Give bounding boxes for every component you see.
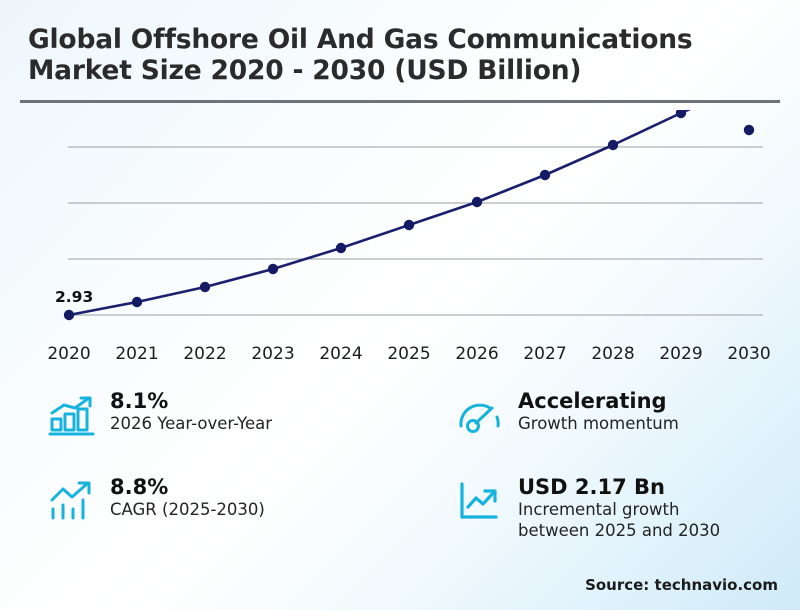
stat-value-momentum: Accelerating (518, 389, 679, 414)
infographic-page: Global Offshore Oil And Gas Communicatio… (0, 0, 800, 610)
stat-text-cagr: 8.8% CAGR (2025-2030) (110, 474, 265, 521)
x-tick-2021: 2021 (115, 344, 158, 364)
x-tick-2028: 2028 (591, 344, 634, 364)
stat-caption-incremental-line2: between 2025 and 2030 (518, 521, 720, 542)
data-point-2030 (744, 125, 754, 135)
stat-caption-cagr: CAGR (2025-2030) (110, 500, 265, 521)
stat-text-incremental: USD 2.17 Bn Incremental growth between 2… (518, 474, 720, 541)
stat-value-yoy: 8.1% (110, 389, 272, 414)
stat-card-incremental: USD 2.17 Bn Incremental growth between 2… (452, 474, 720, 541)
x-tick-2024: 2024 (319, 344, 362, 364)
stat-card-cagr: 8.8% CAGR (2025-2030) (44, 474, 265, 530)
data-point-2022 (200, 282, 210, 292)
x-tick-2022: 2022 (183, 344, 226, 364)
stat-value-incremental: USD 2.17 Bn (518, 475, 720, 500)
x-tick-2030: 2030 (727, 344, 770, 364)
stat-caption-incremental: Incremental growth between 2025 and 2030 (518, 500, 720, 541)
axis-trend-arrow-icon (452, 474, 508, 530)
stat-card-yoy: 8.1% 2026 Year-over-Year (44, 388, 272, 444)
x-tick-2026: 2026 (455, 344, 498, 364)
stat-card-momentum: Accelerating Growth momentum (452, 388, 679, 444)
bar-chart-growth-icon (44, 388, 100, 444)
source-attribution: Source: technavio.com (585, 576, 778, 594)
speedometer-gauge-icon (452, 388, 508, 444)
data-point-2027 (540, 170, 550, 180)
page-title: Global Offshore Oil And Gas Communicatio… (28, 24, 778, 86)
x-tick-2020: 2020 (47, 344, 90, 364)
stat-text-momentum: Accelerating Growth momentum (518, 388, 679, 435)
stat-caption-momentum: Growth momentum (518, 414, 679, 435)
title-line-2: Market Size 2020 - 2030 (USD Billion) (28, 55, 778, 86)
title-line-1: Global Offshore Oil And Gas Communicatio… (28, 24, 778, 55)
x-tick-2027: 2027 (523, 344, 566, 364)
stat-value-cagr: 8.8% (110, 475, 265, 500)
chart-gridlines (68, 147, 763, 315)
title-divider (20, 100, 780, 103)
data-point-2023 (268, 264, 278, 274)
x-tick-2029: 2029 (659, 344, 702, 364)
stats-grid: 8.1% 2026 Year-over-Year 8.8% CAGR (2025… (0, 382, 800, 567)
trending-up-bars-icon (44, 474, 100, 530)
chart-last-point-layer (0, 110, 800, 170)
data-point-2021 (132, 297, 142, 307)
data-point-2025 (404, 220, 414, 230)
x-tick-2025: 2025 (387, 344, 430, 364)
data-point-2026 (472, 197, 482, 207)
stat-text-yoy: 8.1% 2026 Year-over-Year (110, 388, 272, 435)
data-point-2020 (64, 310, 74, 320)
data-label-2020: 2.93 (55, 288, 93, 306)
x-tick-2023: 2023 (251, 344, 294, 364)
stat-caption-incremental-line1: Incremental growth (518, 500, 720, 521)
data-point-2024 (336, 243, 346, 253)
x-axis-tick-labels: 2020 2021 2022 2023 2024 2025 2026 2027 … (0, 344, 800, 370)
stat-caption-yoy: 2026 Year-over-Year (110, 414, 272, 435)
